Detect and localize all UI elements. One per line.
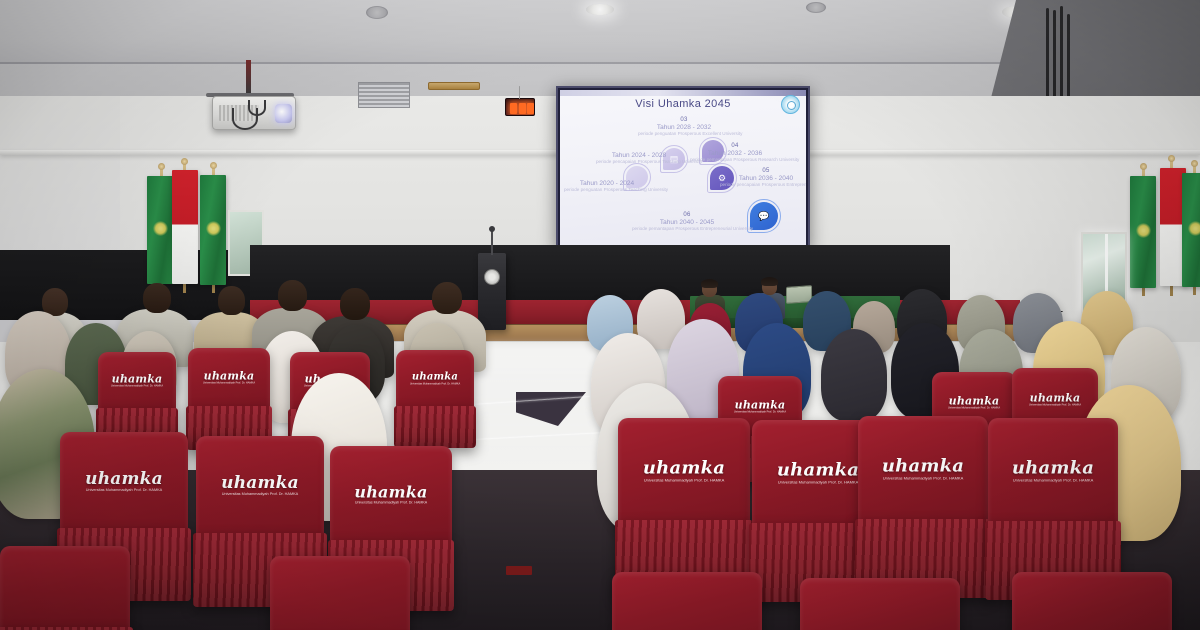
slide-phase-03: 03 Tahun 2028 - 2032 periode penguatan P… [638, 117, 730, 137]
slide-title: Visi Uhamka 2045 [560, 98, 806, 110]
projector-cable [248, 100, 266, 116]
chair[interactable]: uhamka Universitas Muhammadiyah Prof. Dr… [988, 418, 1118, 596]
slide-phase-06: 06 Tahun 2040 - 2045 periode pemantapan … [632, 212, 742, 232]
ceiling-light [586, 4, 614, 15]
chair-back [612, 572, 762, 630]
chair-back [60, 432, 188, 535]
wall-wood-trim [428, 82, 480, 90]
person-head [143, 283, 171, 313]
wall-indicator-panel [505, 98, 535, 116]
chair[interactable] [800, 578, 960, 630]
podium [478, 253, 506, 330]
slide-phase-04: 04 Tahun 2032 - 2036 periode pemantapan … [690, 143, 780, 163]
chair-back [196, 436, 324, 540]
chair[interactable]: uhamka Universitas Muhammadiyah Prof. Dr… [618, 418, 750, 594]
chair-skirt [394, 406, 475, 448]
chair[interactable]: uhamka Universitas Muhammadiyah Prof. Dr… [188, 348, 270, 448]
chair-back [858, 416, 988, 526]
chair-back [330, 446, 452, 546]
muhammadiyah-flag [1182, 173, 1200, 287]
chair-back [0, 546, 130, 630]
ceiling-vent [366, 6, 388, 19]
hijab [821, 329, 887, 421]
chair[interactable] [612, 572, 762, 630]
slide-top-accent [560, 90, 806, 96]
podium-seal-icon [484, 269, 500, 285]
muhammadiyah-flag [147, 176, 173, 284]
indonesia-flag [172, 170, 198, 284]
microphone-icon [491, 229, 493, 255]
chair[interactable] [1012, 572, 1172, 630]
panel-wire [519, 86, 520, 99]
slide-phase-01: Tahun 2020 - 2024 periode penguatan Pros… [564, 180, 650, 193]
floor-marker [506, 566, 532, 575]
chair-back [188, 348, 270, 410]
chair[interactable]: uhamka Universitas Muhammadiyah Prof. Dr… [858, 416, 988, 594]
chair[interactable] [0, 546, 130, 630]
air-vent [358, 82, 410, 108]
chair[interactable]: uhamka Universitas Muhammadiyah Prof. Dr… [396, 350, 474, 446]
left-wall [0, 96, 120, 256]
chair-back [800, 578, 960, 630]
chair-back [98, 352, 176, 412]
slide-phase-02: Tahun 2024 - 2028 periode pencapaian Pro… [596, 152, 682, 165]
muhammadiyah-flag [1130, 176, 1156, 288]
phase-badge-icon: 💬 [750, 202, 778, 230]
person-head [218, 286, 245, 315]
projection-screen: Visi Uhamka 2045 ▤ ⚙ 💬 Tahun 2020 - 2024… [556, 86, 810, 250]
chair-back [618, 418, 750, 527]
chair-back [988, 418, 1118, 528]
slide-phase-05: 05 Tahun 2036 - 2040 periode pencapaian … [720, 168, 806, 188]
ceiling-vent [806, 2, 826, 13]
muhammadiyah-flag [200, 175, 226, 285]
projector-mount [246, 60, 251, 94]
projector-lens-icon [275, 104, 292, 123]
presentation-slide: Visi Uhamka 2045 ▤ ⚙ 💬 Tahun 2020 - 2024… [560, 90, 806, 246]
auditorium-photo: Visi Uhamka 2045 ▤ ⚙ 💬 Tahun 2020 - 2024… [0, 0, 1200, 630]
speaker-hair [701, 279, 718, 288]
chair[interactable] [270, 556, 410, 630]
chair-back [270, 556, 410, 630]
person-head [278, 280, 307, 311]
person-head [432, 282, 462, 314]
chair-back [396, 350, 474, 410]
person-head [340, 288, 370, 320]
speaker-hair [761, 277, 778, 286]
chair-back [1012, 572, 1172, 630]
